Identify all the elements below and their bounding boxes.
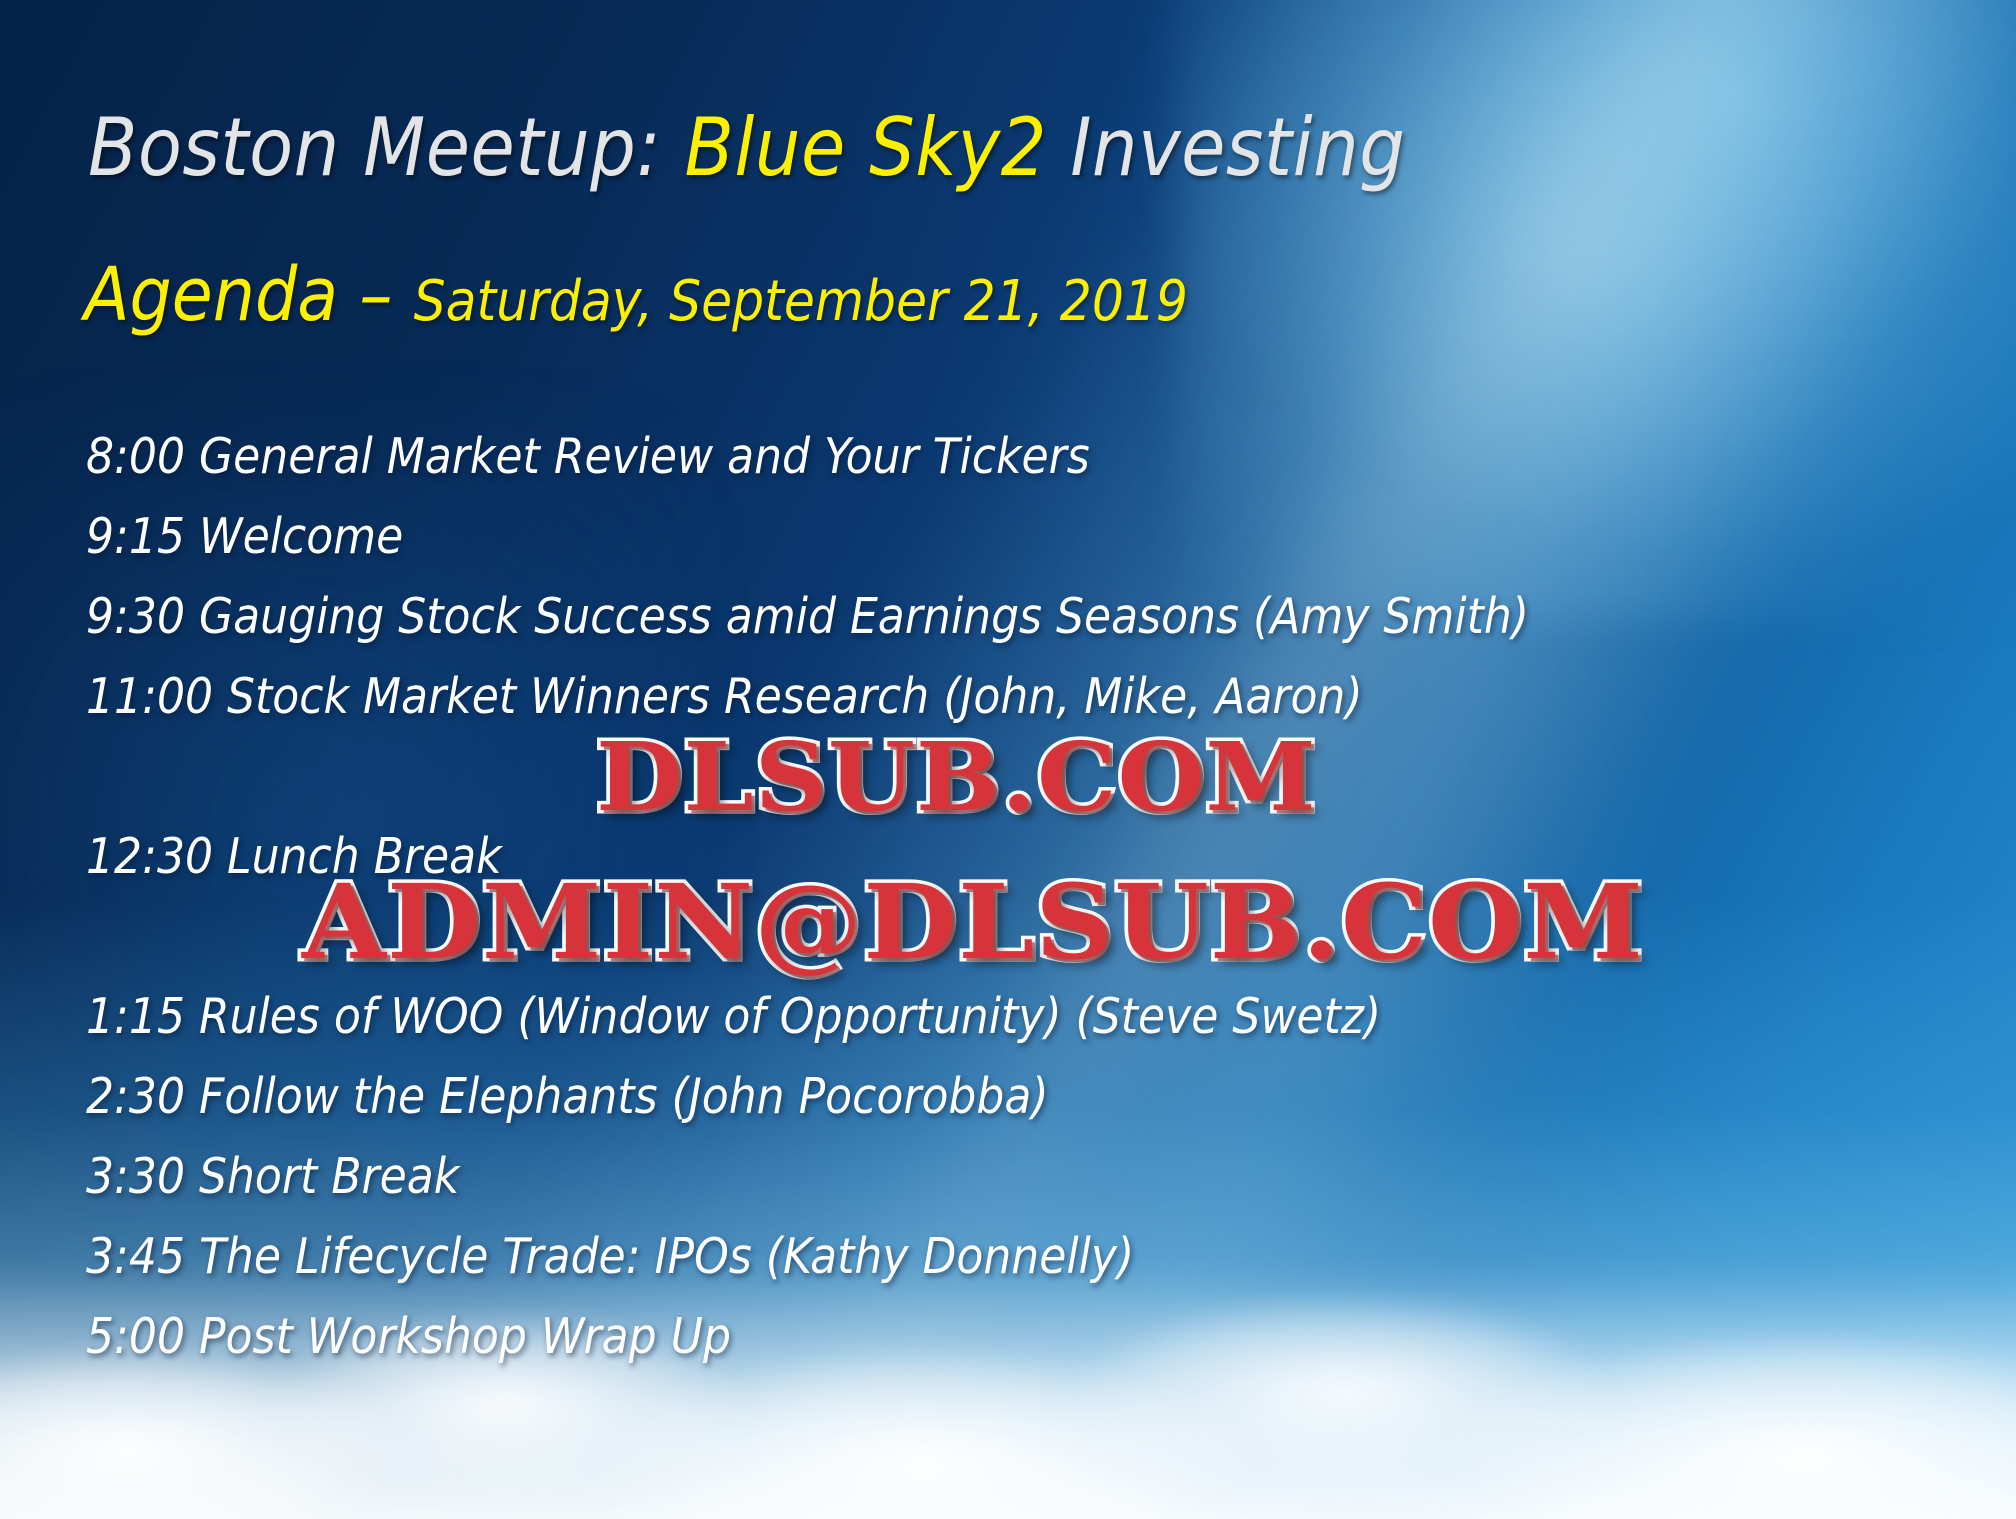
agenda-item: 3:45 The Lifecycle Trade: IPOs (Kathy Do… bbox=[86, 1232, 1846, 1312]
slide-title: Boston Meetup: Blue Sky2 Investing bbox=[88, 108, 1405, 188]
slide-title-prefix: Boston Meetup: bbox=[88, 101, 684, 194]
watermark-site: DLSUB.COM bbox=[596, 722, 1317, 833]
watermark-email: ADMIN@DLSUB.COM bbox=[302, 862, 1644, 983]
agenda-item: 9:30 Gauging Stock Success amid Earnings… bbox=[86, 592, 1846, 672]
slide-title-highlight: Blue Sky2 bbox=[684, 101, 1046, 194]
agenda-item: 2:30 Follow the Elephants (John Pocorobb… bbox=[86, 1072, 1846, 1152]
presentation-slide: Boston Meetup: Blue Sky2 Investing Agend… bbox=[0, 0, 2016, 1519]
agenda-heading: Agenda – Saturday, September 21, 2019 bbox=[84, 258, 1188, 332]
slide-title-suffix: Investing bbox=[1047, 101, 1406, 194]
agenda-heading-label: Agenda – bbox=[84, 252, 414, 338]
agenda-heading-date: Saturday, September 21, 2019 bbox=[414, 269, 1188, 334]
agenda-item: 8:00 General Market Review and Your Tick… bbox=[86, 432, 1846, 512]
agenda-item: 9:15 Welcome bbox=[86, 512, 1846, 592]
agenda-item: 3:30 Short Break bbox=[86, 1152, 1846, 1232]
agenda-item: 5:00 Post Workshop Wrap Up bbox=[86, 1312, 1846, 1392]
agenda-item: 1:15 Rules of WOO (Window of Opportunity… bbox=[86, 992, 1846, 1072]
